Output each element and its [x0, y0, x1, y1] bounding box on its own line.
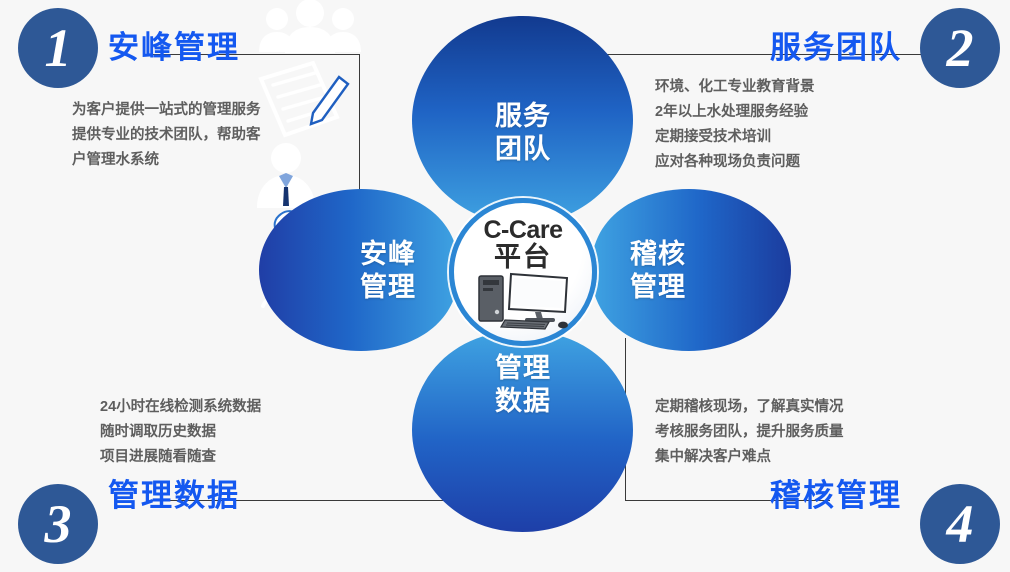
quadrant-body-3-line-2: 随时调取历史数据	[100, 420, 261, 445]
quadrant-body-1-line-1: 为客户提供一站式的管理服务	[72, 98, 261, 123]
quadrant-body-1: 为客户提供一站式的管理服务 提供专业的技术团队，帮助客 户管理水系统	[72, 98, 261, 173]
people-group-icon	[255, 0, 365, 55]
number-badge-1-label: 1	[45, 21, 72, 75]
petal-right-label: 稽核 管理	[613, 238, 703, 304]
petal-bottom-label: 管理 数据	[473, 352, 573, 418]
center-hub-brand: C-Care	[484, 217, 563, 243]
quadrant-body-1-line-2: 提供专业的技术团队，帮助客	[72, 123, 261, 148]
center-hub[interactable]: C-Care 平台	[449, 198, 597, 346]
petal-left-label-line-1: 安峰	[343, 238, 433, 271]
number-badge-4: 4	[920, 484, 1000, 564]
petal-top-label: 服务 团队	[473, 100, 573, 166]
flower-diagram: 服务 团队 管理 数据	[255, 0, 790, 540]
number-badge-3: 3	[18, 484, 98, 564]
petal-right-label-line-2: 管理	[613, 271, 703, 304]
number-badge-4-label: 4	[947, 497, 974, 551]
petal-right-label-line-1: 稽核	[613, 238, 703, 271]
quadrant-title-1: 安峰管理	[108, 22, 240, 67]
clipboard-pen-icon	[255, 55, 350, 140]
quadrant-title-3: 管理数据	[108, 470, 240, 515]
number-badge-2-label: 2	[947, 21, 974, 75]
infographic-canvas: 1 2 3 4 安峰管理 服务团队 管理数据 稽核管理 为客户提供一站式的管理服…	[0, 0, 1010, 572]
number-badge-3-label: 3	[45, 497, 72, 551]
quadrant-body-1-line-3: 户管理水系统	[72, 148, 261, 173]
petal-left-label-line-2: 管理	[343, 271, 433, 304]
petal-top-label-line-2: 团队	[473, 133, 573, 166]
petal-top-label-line-1: 服务	[473, 100, 573, 133]
desktop-computer-icon	[475, 272, 571, 335]
petal-bottom-label-line-2: 数据	[473, 385, 573, 418]
number-badge-2: 2	[920, 8, 1000, 88]
center-hub-subtitle: 平台	[494, 243, 552, 271]
quadrant-body-3: 24小时在线检测系统数据 随时调取历史数据 项目进展随看随查	[100, 395, 261, 470]
petal-bottom-label-line-1: 管理	[473, 352, 573, 385]
number-badge-1: 1	[18, 8, 98, 88]
quadrant-body-3-line-1: 24小时在线检测系统数据	[100, 395, 261, 420]
petal-left-label: 安峰 管理	[343, 238, 433, 304]
quadrant-body-3-line-3: 项目进展随看随查	[100, 445, 261, 470]
